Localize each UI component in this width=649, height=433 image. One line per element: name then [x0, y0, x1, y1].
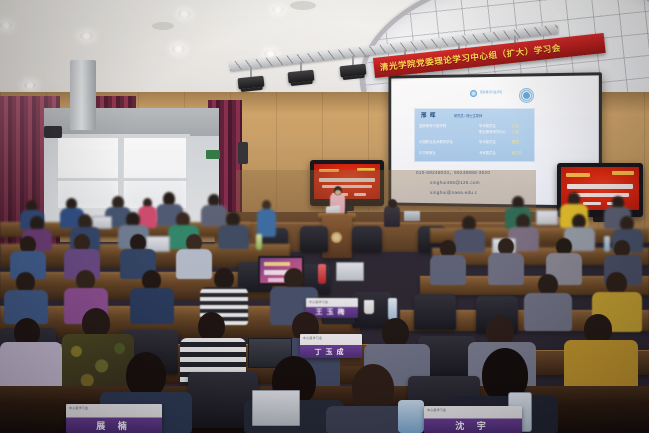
water-bottle [388, 298, 397, 320]
wall-speaker-right [238, 142, 248, 164]
ceiling-pillar [70, 60, 96, 130]
emblem-logo-icon [519, 88, 534, 103]
water-bottle [256, 234, 262, 250]
name-card-name: 丁玉成 [300, 347, 362, 357]
slide-info-box: 邢 晖 研究员 / 博士生导师 国家教育行政学院 学术委员会 主任 职业教育研究… [414, 108, 535, 162]
window-transom [56, 178, 188, 181]
downlight [0, 22, 12, 29]
slide-affiliation-row: 中国职业技术教育学会 学术委员会 委员 [419, 139, 531, 144]
name-card-label: 中心组学习会 [69, 406, 88, 410]
chair [414, 294, 456, 330]
stage-chair [300, 226, 328, 252]
presenter-face [335, 190, 341, 195]
lecture-hall-photo: 国家教育行政学院 邢 晖 研究员 / 博士生导师 国家教育行政学院 学术委员会 … [0, 0, 649, 433]
name-card-name: 展 楠 [66, 419, 162, 432]
name-card: 中心组学习会 丁玉成 [300, 334, 362, 358]
affil-org: 中国职业技术教育学会 [419, 140, 453, 144]
seated-host-body [384, 205, 400, 227]
affil-org: 国家教育行政学院 [419, 124, 446, 128]
affil-body: 职业教育研究中心 [479, 129, 506, 134]
affil-role: 主任 [512, 129, 519, 134]
podium-crest-icon [331, 232, 342, 243]
affil-body: 学术委员会 [479, 123, 496, 128]
slide-speaker-subtitle: 研究员 / 博士生导师 [454, 113, 482, 118]
water-bottle [398, 400, 424, 433]
downlight [178, 10, 191, 18]
downlight [24, 82, 36, 89]
laptop [336, 262, 364, 281]
wall-speaker-left [44, 126, 62, 138]
institution-logo-icon [470, 90, 477, 97]
stage-light [287, 70, 314, 84]
stage-light [339, 64, 366, 78]
stage-chair [352, 226, 382, 252]
affil-body: 专家委员会 [479, 150, 496, 155]
laptop [536, 210, 558, 225]
exit-sign [206, 150, 220, 159]
affil-role: 委员 [512, 139, 519, 144]
name-card-name: 沈 宇 [424, 419, 522, 432]
window-pane [124, 138, 186, 208]
name-card-label: 中心组学习会 [303, 336, 322, 340]
host-laptop [404, 211, 420, 221]
ceiling-vent [290, 1, 316, 10]
ceiling-vent [152, 22, 174, 30]
name-card: 中心组学习会 展 楠 [66, 404, 162, 433]
paper-cup [364, 300, 374, 314]
window-pane [58, 138, 118, 208]
name-card: 中心组学习会 沈 宇 [424, 406, 522, 433]
downlight [172, 45, 185, 53]
window-head [54, 134, 190, 138]
institution-logo-caption: 国家教育行政学院 [480, 90, 502, 94]
water-bottle [604, 236, 610, 252]
name-card-label: 中心组学习会 [309, 300, 328, 304]
seated-host-head [388, 199, 397, 208]
slide-affiliation-row: 国家教育行政学院 学术委员会 主任 [419, 123, 531, 128]
slide-affiliation-row: 中华职教社 专家委员会 副主任 [419, 150, 531, 155]
downlight [80, 32, 93, 40]
slide-speaker-name: 邢 晖 [421, 111, 437, 119]
affil-role: 副主任 [512, 150, 522, 155]
affil-role: 主任 [512, 123, 519, 128]
name-card-label: 中心组学习会 [427, 408, 446, 412]
affil-body: 学术委员会 [479, 139, 496, 144]
water-bottle [318, 264, 326, 284]
stage-light [237, 76, 264, 90]
laptop [252, 390, 300, 426]
affil-org: 中华职教社 [419, 151, 436, 155]
downlight [272, 6, 284, 13]
